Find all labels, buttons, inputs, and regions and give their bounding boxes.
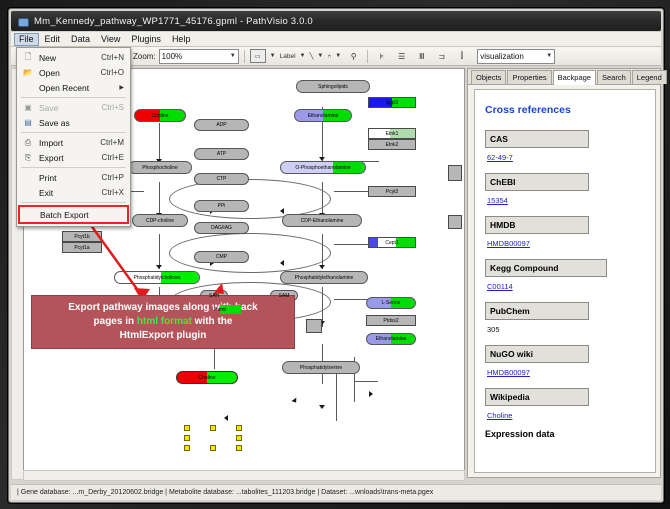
stack-icon[interactable]: ⊐ [433,48,450,65]
pathway-node[interactable]: CMP [194,251,249,263]
window-title: Mm_Kennedy_pathway_WP1771_45176.gpml - P… [34,16,313,27]
node-label: Phosphatidylcholines [134,275,181,281]
node-label: PPi [218,203,226,209]
canvas-horizontal-scrollbar[interactable] [23,470,465,481]
export-icon: ⎘ [17,153,39,163]
pathway-node[interactable]: Ethanolamine [294,109,352,122]
menu-help[interactable]: Help [167,33,196,46]
section-header-cas: CAS [485,130,589,148]
attached-box[interactable] [448,215,462,229]
expression-data-heading: Expression data [485,429,655,439]
save-as-icon: ▤ [17,118,39,127]
node-label: Sgpl1 [386,100,399,106]
pathway-node[interactable]: CDP-Ethanolamine [282,214,362,227]
tab-properties[interactable]: Properties [507,70,551,84]
pathway-node[interactable]: Choline [134,109,186,122]
arrowhead [156,265,162,269]
node-label: Ethanolamine [308,113,339,119]
zoom-combo[interactable]: 100% ▼ [159,49,239,64]
arrowhead [369,391,373,397]
tab-objects[interactable]: Objects [471,70,506,84]
status-sep: | [17,489,19,496]
node-label: Choline [152,113,169,119]
node-label: Pemt [214,307,226,313]
node-label: Phosphocholine [142,165,178,171]
section-value-wikipedia[interactable]: Choline [487,411,655,420]
section-header-kegg-compound: Kegg Compound [485,259,607,277]
menu-item-label: Save [39,103,102,113]
menu-item-label: Print [39,173,102,183]
callout-line2-green: html format [137,316,192,327]
node-label: O-Phosphoethanolamine [295,165,350,171]
menu-item-shortcut: Ctrl+O [101,68,130,77]
visualization-combo[interactable]: visualization ▼ [477,49,555,64]
status-sep: | [165,489,167,496]
pathway-node-selected[interactable]: Choline [176,371,238,384]
gene-node[interactable]: Pcyt2 [368,186,416,197]
menu-item-shortcut: Ctrl+P [102,173,130,182]
menu-item-shortcut: Ctrl+N [101,53,130,62]
node-label: SAH [209,293,219,299]
menu-item-shortcut: Ctrl+M [100,138,130,147]
pathway-node[interactable]: PPi [194,200,249,212]
tab-search[interactable]: Search [597,70,631,84]
common-width-icon[interactable]: ⫿ [453,48,470,65]
arrowhead [319,265,325,269]
selection-handle[interactable] [236,445,242,451]
pathway-node[interactable]: O-Phosphoethanolamine [280,161,366,174]
align-center-icon[interactable]: ☰ [393,48,410,65]
menu-item-label: New [39,53,101,63]
menu-item-import[interactable]: ⎙ Import Ctrl+M [17,135,130,150]
datanode-icon[interactable]: ▭ [250,49,266,63]
side-panel-tabs: Objects Properties Backpage Search Legen… [468,69,660,85]
menu-item-save[interactable]: ▣ Save Ctrl+S [17,100,130,115]
save-icon: ▣ [17,103,39,112]
section-header-nugo-wiki: NuGO wiki [485,345,589,363]
section-value-pubchem: 305 [487,325,655,334]
edge [336,369,337,421]
label-tool-label[interactable]: Label [280,53,296,60]
edge [354,381,378,382]
edge [159,123,160,163]
label-chevron-down-icon[interactable]: ▼ [299,53,307,59]
gene-node[interactable]: Pcyt1b [62,231,102,242]
menu-separator [21,132,126,133]
screenshot-root: Mm_Kennedy_pathway_WP1771_45176.gpml - P… [0,0,670,509]
cofactor-loop [169,233,331,273]
selection-handle[interactable] [184,425,190,431]
selection-handle[interactable] [236,435,242,441]
menu-item-exit[interactable]: Exit Ctrl+X [17,185,130,200]
status-bar: | Gene database: ...m_Derby_20120602.bri… [11,484,661,500]
arrowhead [319,405,325,409]
node-label: ADP [216,122,226,128]
callout-line2-after: with the [192,316,233,327]
status-sep: | [317,489,319,496]
node-label: Pcyt1b [74,234,89,240]
cofactor-loop [169,179,331,219]
pathway-node[interactable]: Phosphocholine [128,161,192,174]
file-dropdown-menu: 🗋 New Ctrl+N 📂 Open Ctrl+O Open Recent ▶… [16,47,131,227]
section-value-chebi[interactable]: 15354 [487,196,655,205]
new-file-icon: 🗋 [17,51,39,65]
align-left-icon[interactable]: ⊧ [373,48,390,65]
gene-node[interactable]: Ptdss2 [366,315,416,326]
menu-item-shortcut: Ctrl+S [102,103,130,112]
pathway-node[interactable]: ATP [194,148,249,160]
line-icon[interactable]: ╲ [309,52,313,60]
zoom-label: Zoom: [133,52,156,61]
attached-box[interactable] [448,165,462,181]
menu-item-save-as[interactable]: ▤ Save as [17,115,130,130]
section-header-chebi: ChEBI [485,173,589,191]
node-label: CDP-Ethanolamine [301,218,344,224]
selection-handle[interactable] [236,425,242,431]
visualization-value: visualization [480,52,524,61]
menu-item-label: Open [39,68,101,78]
menu-separator [21,97,126,98]
node-label: Cept1 [385,240,398,246]
node-label: ATP [217,151,226,157]
menu-bar: File Edit Data View Plugins Help [11,32,661,47]
menu-item-export[interactable]: ⎘ Export Ctrl+E [17,150,130,165]
attached-box[interactable] [306,319,322,333]
section-header-pubchem: PubChem [485,302,589,320]
selection-handle[interactable] [184,435,190,441]
node-label: Pcyt1a [74,245,89,251]
annotation-callout: Export pathway images along with back pa… [31,295,295,349]
node-label: Phosphatidylethanolamine [295,275,354,281]
edge [159,234,160,269]
section-header-wikipedia: Wikipedia [485,388,589,406]
gene-node[interactable]: Pcyt1a [62,242,102,253]
section-value-nugo-wiki[interactable]: HMDB00097 [487,368,655,377]
section-value-hmdb[interactable]: HMDB00097 [487,239,655,248]
pathway-node[interactable]: L-Serine [366,297,416,309]
interaction-chevron-down-icon[interactable]: ▼ [334,53,342,59]
node-label: CTP [217,176,227,182]
pathvisio-icon [17,15,29,27]
pathway-node[interactable]: Phosphatidylethanolamine [280,271,368,284]
node-label: Ethanolamine [376,336,407,342]
callout-line3: HtmlExport plugin [120,330,207,341]
pathway-node[interactable]: CDP-choline [132,214,188,227]
side-panel: Objects Properties Backpage Search Legen… [467,68,661,478]
node-label: Pcyt2 [386,189,399,195]
arrowhead [291,398,298,405]
status-dataset: Dataset: ...wnloads\trans-meta.pgex [321,489,433,496]
node-label: Etnk2 [386,142,399,148]
menu-item-print[interactable]: Print Ctrl+P [17,170,130,185]
gene-node[interactable]: Etnk1 [368,128,416,139]
menu-item-new[interactable]: 🗋 New Ctrl+N [17,50,130,65]
align-middle-icon[interactable]: Ⅲ [413,48,430,65]
submenu-chevron-right-icon: ▶ [119,84,130,91]
pathway-node[interactable]: Phosphatidylcholines [114,271,200,284]
pathway-node[interactable]: Ethanolamine [366,333,416,345]
menu-data[interactable]: Data [66,33,95,46]
tab-backpage[interactable]: Backpage [553,70,596,85]
arrowhead [280,208,284,214]
menu-item-shortcut: Ctrl+E [102,153,130,162]
menu-file[interactable]: File [14,33,39,46]
menu-item-label: Save as [39,118,124,128]
pathway-node[interactable]: DAG/IAG [194,222,249,234]
pathway-node[interactable]: Sphingolipids [296,80,370,93]
menu-item-label: Import [39,138,100,148]
node-label: DAG/IAG [211,225,232,231]
menu-item-label: Open Recent [39,83,119,93]
edge [159,182,160,215]
backpage-panel: Cross references CAS 62-49-7 ChEBI 15354… [474,89,656,473]
menu-view[interactable]: View [96,33,125,46]
anchor-icon[interactable]: ⚲ [345,48,362,65]
cross-references-heading: Cross references [485,104,655,116]
menu-separator [21,202,126,203]
node-label: Choline [199,375,216,381]
arrowhead [280,260,284,266]
gene-node[interactable]: Sgpl1 [368,97,416,108]
toolbar-separator [244,50,245,63]
pathway-node[interactable]: Phosphatidylserine [282,361,360,374]
zoom-value: 100% [162,52,182,61]
status-metabolite-database: Metabolite database: ...tabolites_111203… [169,489,315,496]
pathway-node[interactable]: ADP [194,119,249,131]
chevron-down-icon: ▼ [546,53,552,59]
menu-plugins[interactable]: Plugins [126,33,166,46]
callout-line2-before: pages in [94,316,137,327]
node-label: Ptdss2 [383,318,398,324]
menu-edit[interactable]: Edit [40,33,66,46]
chevron-down-icon: ▼ [230,53,236,59]
section-value-cas[interactable]: 62-49-7 [487,153,655,162]
selection-handle[interactable] [184,445,190,451]
menu-item-label: Export [39,153,102,163]
node-label: Sphingolipids [318,84,348,90]
gene-node[interactable]: Cept1 [368,237,416,248]
interaction-icon[interactable]: ⑃ [327,53,331,60]
status-gene-database: Gene database: ...m_Derby_20120602.bridg… [21,489,163,496]
menu-item-batch-export[interactable]: Batch Export [18,205,129,224]
datanode-chevron-down-icon[interactable]: ▼ [269,53,277,59]
menu-item-shortcut: Ctrl+X [102,188,130,197]
import-icon: ⎙ [17,138,39,148]
application-window: Mm_Kennedy_pathway_WP1771_45176.gpml - P… [8,8,664,503]
pathway-node[interactable]: CTP [194,173,249,185]
toolbar-separator [367,50,368,63]
node-label: CMP [216,254,227,260]
folder-icon: 📂 [17,68,39,77]
menu-separator [21,167,126,168]
selection-handle[interactable] [210,425,216,431]
selection-handle[interactable] [210,445,216,451]
node-label: Phosphatidylserine [300,365,342,371]
menu-item-open[interactable]: 📂 Open Ctrl+O [17,65,130,80]
section-header-hmdb: HMDB [485,216,589,234]
tab-legend[interactable]: Legend [632,70,667,84]
section-value-kegg-compound[interactable]: C00114 [487,282,655,291]
node-label: Etnk1 [386,131,399,137]
node-label: L-Serine [382,300,401,306]
menu-item-label: Exit [39,188,102,198]
line-chevron-down-icon[interactable]: ▼ [316,53,324,59]
node-label: CDP-choline [146,218,174,224]
arrowhead [224,415,228,421]
title-bar: Mm_Kennedy_pathway_WP1771_45176.gpml - P… [11,11,661,31]
node-label: SAM [279,293,290,299]
gene-node[interactable]: Etnk2 [368,139,416,150]
menu-item-open-recent[interactable]: Open Recent ▶ [17,80,130,95]
menu-item-label: Batch Export [40,210,127,220]
